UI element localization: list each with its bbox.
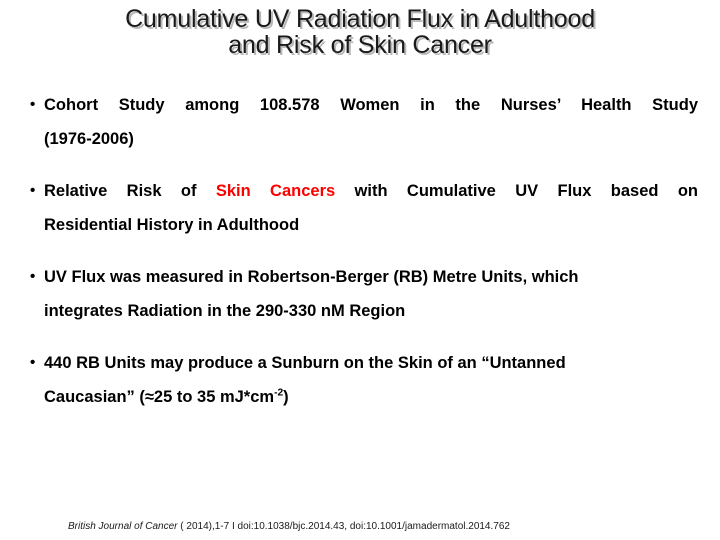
bullet-item-uv-flux-measured: • UV Flux was measured in Robertson-Berg… xyxy=(26,260,698,328)
footer-journal-name: British Journal of Cancer xyxy=(68,521,178,532)
bullet-2-line-1: Relative Risk of Skin Cancers with Cumul… xyxy=(44,174,698,208)
bullet-marker-icon: • xyxy=(30,346,35,380)
slide-title-line-2: and Risk of Skin Cancer xyxy=(0,32,720,58)
bullet-item-cohort-study: • Cohort Study among 108.578 Women in th… xyxy=(26,88,698,156)
bullet-4-text-pre: Caucasian” (≈25 to 35 mJ*cm xyxy=(44,388,274,406)
bullet-marker-icon: • xyxy=(30,260,35,294)
bullet-4-superscript-exponent: -2 xyxy=(274,388,283,399)
bullet-item-relative-risk: • Relative Risk of Skin Cancers with Cum… xyxy=(26,174,698,242)
bullet-marker-icon: • xyxy=(30,88,35,122)
bullet-item-rb-units-sunburn: • 440 RB Units may produce a Sunburn on … xyxy=(26,346,698,414)
bullet-3-line-1: UV Flux was measured in Robertson-Berger… xyxy=(44,260,698,294)
bullet-4-line-1: 440 RB Units may produce a Sunburn on th… xyxy=(44,346,698,380)
bullet-2-line-2: Residential History in Adulthood xyxy=(44,208,698,242)
bullet-list: • Cohort Study among 108.578 Women in th… xyxy=(26,88,698,414)
bullet-3-line-2: integrates Radiation in the 290-330 nM R… xyxy=(44,294,698,328)
slide-title-line-1: Cumulative UV Radiation Flux in Adulthoo… xyxy=(0,6,720,32)
bullet-2-text-post: with Cumulative UV Flux based on xyxy=(335,182,698,200)
bullet-4-line-2: Caucasian” (≈25 to 35 mJ*cm-2) xyxy=(44,380,698,414)
slide-title: Cumulative UV Radiation Flux in Adulthoo… xyxy=(0,6,720,58)
footer-citation-details: ( 2014),1-7 I doi:10.1038/bjc.2014.43, d… xyxy=(178,521,510,532)
bullet-1-line-2: (1976-2006) xyxy=(44,122,698,156)
bullet-4-text-post: ) xyxy=(283,388,289,406)
bullet-marker-icon: • xyxy=(30,174,35,208)
bullet-2-text-pre: Relative Risk of xyxy=(44,182,216,200)
footer-citation: British Journal of Cancer ( 2014),1-7 I … xyxy=(68,520,510,534)
bullet-1-line-1: Cohort Study among 108.578 Women in the … xyxy=(44,88,698,122)
bullet-2-highlight-skin-cancers: Skin Cancers xyxy=(216,182,335,200)
